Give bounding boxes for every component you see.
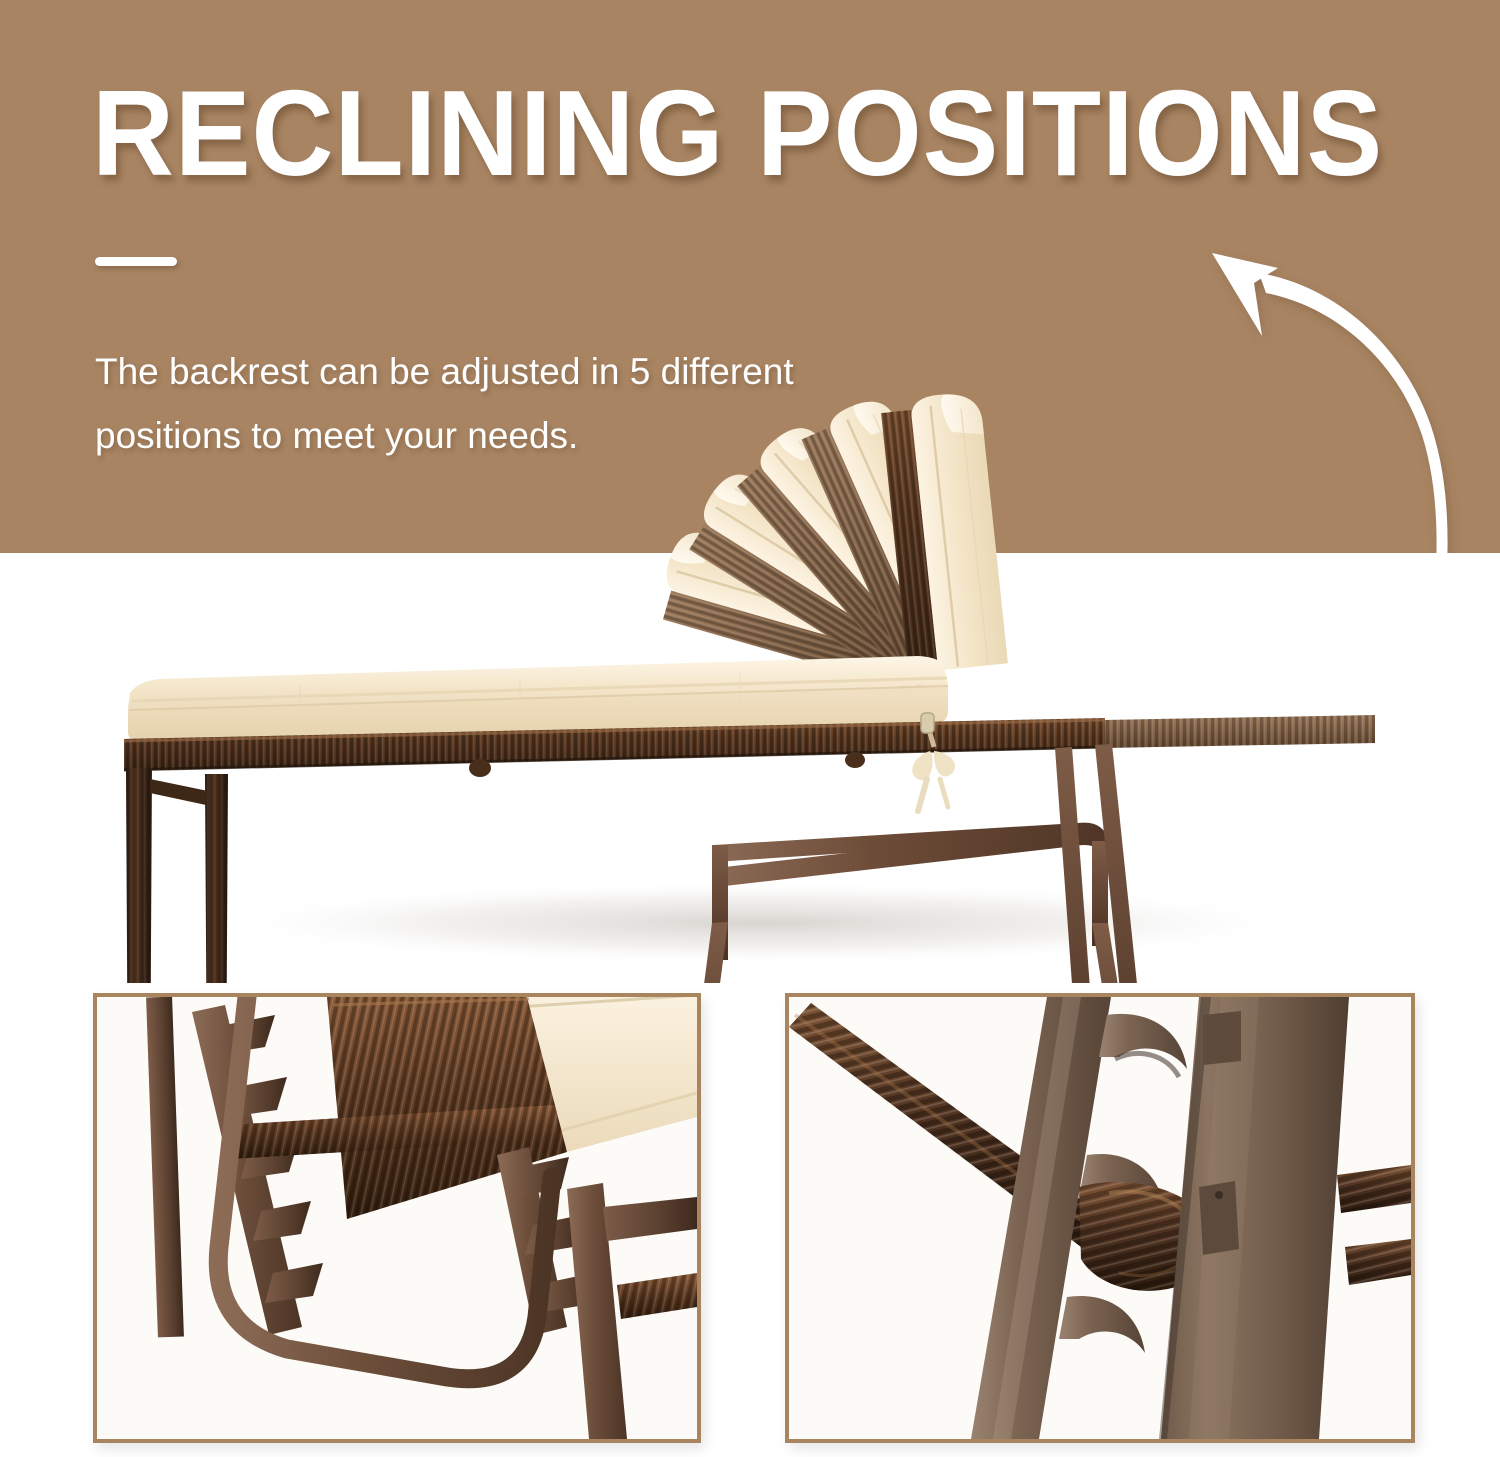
frame-bolt — [469, 759, 491, 777]
reclined-backrest-wicker-strip — [1105, 715, 1375, 748]
screw-head — [1215, 1191, 1223, 1199]
product-scene — [0, 553, 1500, 973]
chaise-lounge-illustration — [0, 223, 1500, 983]
leg-brace — [150, 779, 208, 805]
bracket-flange — [1203, 1011, 1241, 1065]
page-title: RECLINING POSITIONS — [92, 72, 1383, 194]
front-leg-outer — [122, 768, 156, 983]
frame-bolt — [845, 752, 865, 768]
ratchet-notch-closeup-illustration — [789, 997, 1411, 1439]
detail-photo-ratchet-support-bar[interactable] — [93, 993, 701, 1443]
detail-photo-ratchet-notch-closeup[interactable] — [785, 993, 1415, 1443]
ratchet-support-bar-illustration — [97, 997, 697, 1439]
front-leg-inner — [202, 774, 231, 983]
floor-shadow — [200, 881, 1320, 965]
